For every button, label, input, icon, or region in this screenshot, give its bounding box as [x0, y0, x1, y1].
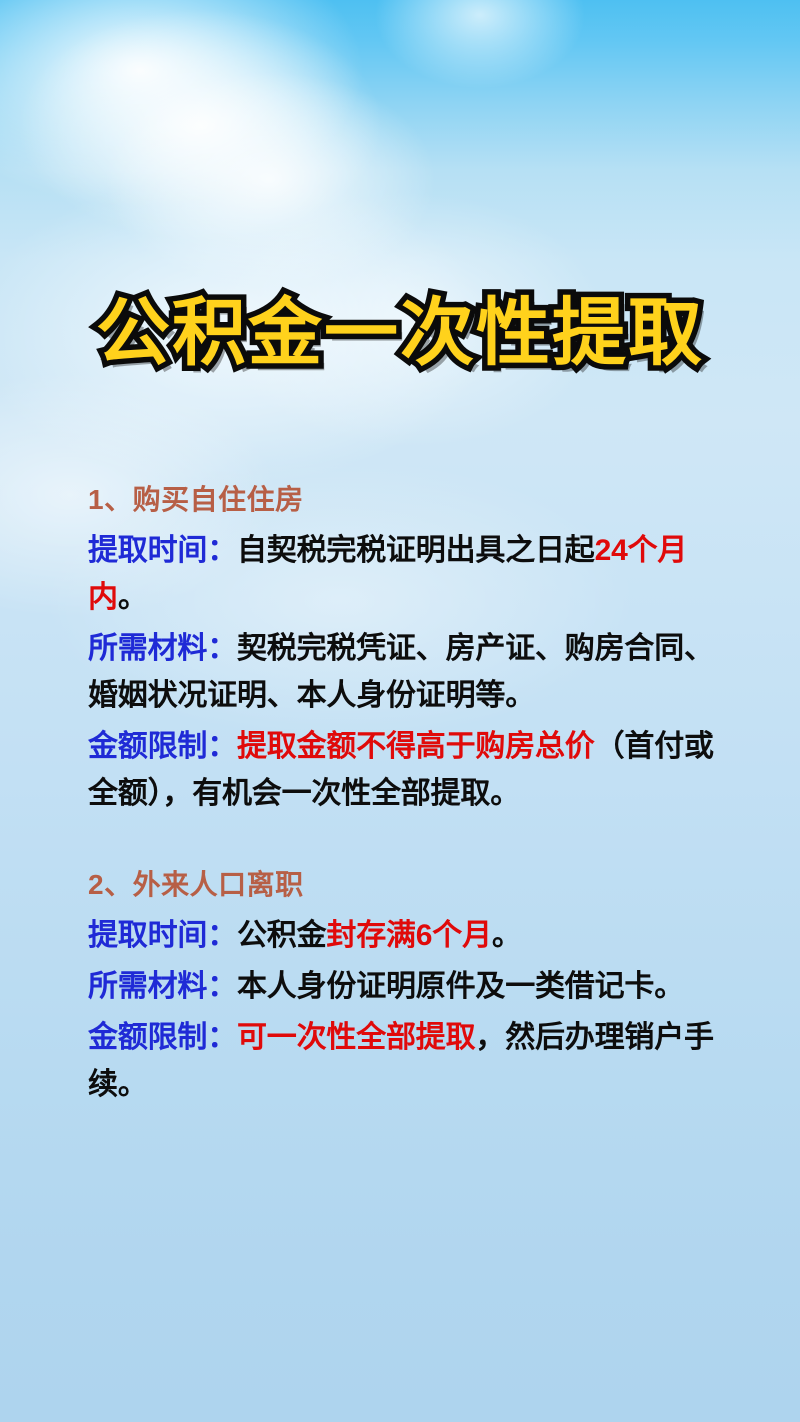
poster-title-container: 公积金一次性提取: [0, 296, 800, 370]
info-row-label: 所需材料：: [88, 970, 237, 1003]
info-row-highlight: 可一次性全部提取: [237, 1021, 475, 1054]
section-heading: 2、外来人口离职: [88, 871, 714, 899]
cloud-decoration: [330, 0, 630, 120]
poster-title: 公积金一次性提取: [96, 296, 704, 370]
info-row: 金额限制：提取金额不得高于购房总价（首付或全额），有机会一次性全部提取。: [88, 723, 714, 817]
cloud-decoration: [0, 0, 450, 260]
info-row-label: 金额限制：: [88, 1021, 237, 1054]
info-row-label: 所需材料：: [88, 632, 237, 665]
content-section: 1、购买自住住房提取时间：自契税完税证明出具之日起24个月内。所需材料：契税完税…: [88, 486, 714, 817]
info-row: 所需材料：本人身份证明原件及一类借记卡。: [88, 963, 714, 1010]
info-row-highlight: 封存满6个月: [326, 919, 492, 952]
info-row: 提取时间：自契税完税证明出具之日起24个月内。: [88, 527, 714, 621]
info-row: 金额限制：可一次性全部提取，然后办理销户手续。: [88, 1014, 714, 1108]
info-row-label: 提取时间：: [88, 919, 237, 952]
info-row-label: 金额限制：: [88, 730, 237, 763]
info-row-text: 公积金: [237, 919, 326, 952]
info-row-text: 。: [492, 919, 522, 952]
info-row: 提取时间：公积金封存满6个月。: [88, 912, 714, 959]
info-row-label: 提取时间：: [88, 534, 237, 567]
info-row-text: 本人身份证明原件及一类借记卡。: [237, 970, 684, 1003]
cloud-decoration: [40, 30, 500, 330]
cloud-decoration: [0, 0, 460, 290]
info-row: 所需材料：契税完税凭证、房产证、购房合同、婚姻状况证明、本人身份证明等。: [88, 625, 714, 719]
content-section: 2、外来人口离职提取时间：公积金封存满6个月。所需材料：本人身份证明原件及一类借…: [88, 871, 714, 1108]
info-row-highlight: 提取金额不得高于购房总价: [237, 730, 595, 763]
section-heading: 1、购买自住住房: [88, 486, 714, 514]
poster-body: 1、购买自住住房提取时间：自契税完税证明出具之日起24个月内。所需材料：契税完税…: [88, 486, 714, 1110]
poster-canvas: 公积金一次性提取 1、购买自住住房提取时间：自契税完税证明出具之日起24个月内。…: [0, 0, 800, 1422]
info-row-text: 。: [118, 581, 148, 614]
info-row-text: 自契税完税证明出具之日起: [237, 534, 595, 567]
